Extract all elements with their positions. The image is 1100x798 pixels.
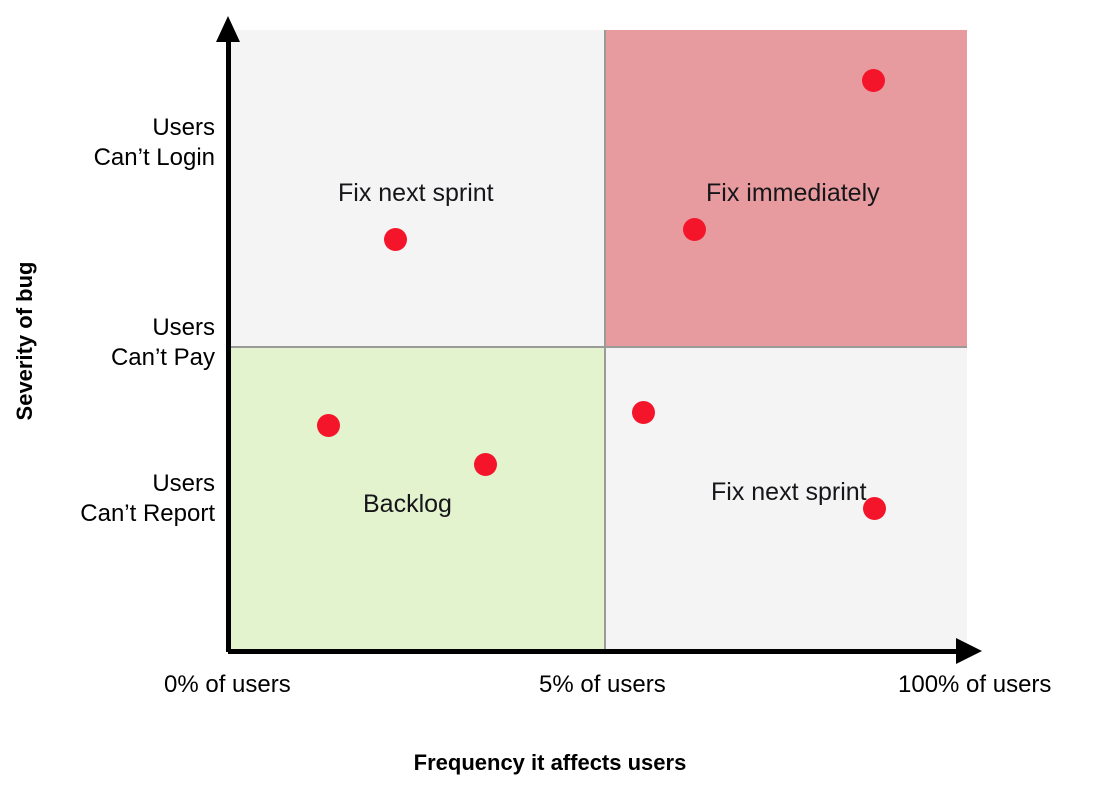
y-axis-tick-cant-report-line1: Users (80, 469, 215, 499)
quadrant-label-top-left: Fix next sprint (338, 181, 494, 206)
y-axis-tick-cant-pay-line1: Users (111, 313, 215, 343)
x-axis-line (228, 649, 970, 654)
y-axis-tick-cant-login-line2: Can’t Login (94, 143, 215, 173)
data-point (683, 218, 706, 241)
bug-priority-quadrant-chart: Fix next sprint Fix immediately Backlog … (0, 0, 1100, 798)
quadrant-divider-vertical (604, 30, 606, 652)
y-axis-tick-cant-login-line1: Users (94, 113, 215, 143)
data-point (862, 69, 885, 92)
y-axis-tick-cant-pay: Users Can’t Pay (111, 313, 215, 373)
y-axis-arrow-icon (216, 16, 240, 42)
x-axis-title: Frequency it affects users (0, 752, 1100, 774)
quadrant-label-top-right: Fix immediately (706, 181, 880, 206)
x-axis-tick-100-percent: 100% of users (898, 673, 1051, 697)
y-axis-line (226, 30, 231, 652)
y-axis-tick-cant-login: Users Can’t Login (94, 113, 215, 173)
x-axis-arrow-icon (956, 638, 982, 664)
y-axis-tick-cant-pay-line2: Can’t Pay (111, 343, 215, 373)
y-axis-tick-cant-report: Users Can’t Report (80, 469, 215, 529)
data-point (384, 228, 407, 251)
y-axis-title: Severity of bug (14, 241, 36, 441)
x-axis-tick-0-percent: 0% of users (164, 673, 291, 697)
data-point (863, 497, 886, 520)
quadrant-label-bottom-left: Backlog (363, 492, 452, 517)
data-point (632, 401, 655, 424)
data-point (474, 453, 497, 476)
x-axis-tick-5-percent: 5% of users (539, 673, 666, 697)
quadrant-divider-horizontal (228, 346, 967, 348)
y-axis-tick-cant-report-line2: Can’t Report (80, 499, 215, 529)
quadrant-label-bottom-right: Fix next sprint (711, 480, 867, 505)
data-point (317, 414, 340, 437)
